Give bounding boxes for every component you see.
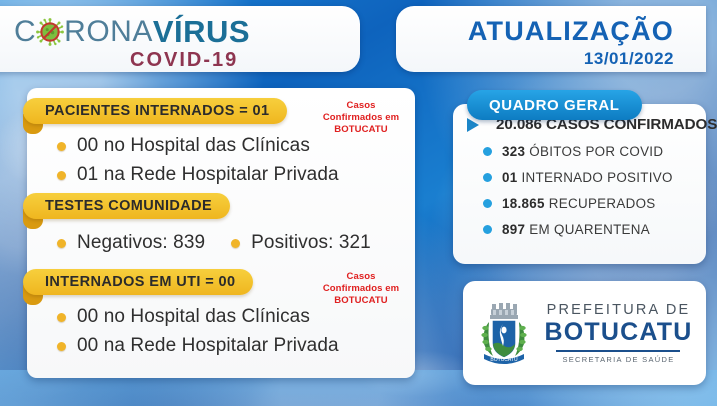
summary-row-0: 323 ÓBITOS POR COVID xyxy=(502,144,663,159)
bullet-dot-icon xyxy=(231,239,240,248)
bullet-text: 00 no Hospital das Clínicas xyxy=(77,135,310,157)
bullet-text: 01 na Rede Hospitalar Privada xyxy=(77,164,339,186)
update-block: ATUALIZAÇÃO 13/01/2022 xyxy=(468,18,674,69)
update-date: 13/01/2022 xyxy=(468,49,674,69)
bullet-list-2: Negativos: 839 Positivos: 321 xyxy=(57,225,417,254)
summary-label: ÓBITOS POR COVID xyxy=(529,144,663,159)
right-summary-card: 20.086 CASOS CONFIRMADOS 323 ÓBITOS POR … xyxy=(453,104,706,264)
note-line-2b: Confirmados em xyxy=(303,283,419,295)
prefeitura-line3: SECRETARIA DE SAÚDE xyxy=(562,356,674,364)
section-title-1: PACIENTES INTERNADOS = 01 xyxy=(45,103,269,119)
bullet-dot-icon xyxy=(57,342,66,351)
bullet-dot-icon xyxy=(57,313,66,322)
divider xyxy=(556,350,680,352)
list-item: 897 EM QUARENTENA xyxy=(483,222,706,237)
header-logo-card: C xyxy=(0,6,360,72)
summary-label: INTERNADO POSITIVO xyxy=(522,170,673,185)
bullet-text: Positivos: 321 xyxy=(251,232,371,254)
right-panel-title: QUADRO GERAL xyxy=(489,97,620,114)
bullet-dot-icon xyxy=(57,239,66,248)
note-line-1a: Casos xyxy=(303,100,419,112)
prefeitura-line2: BOTUCATU xyxy=(544,320,692,345)
section-title-pill-1: PACIENTES INTERNADOS = 01 xyxy=(23,98,287,124)
note-line-1b: Confirmados em xyxy=(303,112,419,124)
bullet-text: Negativos: 839 xyxy=(77,232,205,254)
summary-row-1: 01 INTERNADO POSITIVO xyxy=(502,170,673,185)
list-item: 01 na Rede Hospitalar Privada xyxy=(57,164,339,186)
coronavirus-logo: C xyxy=(14,16,250,70)
list-item: 323 ÓBITOS POR COVID xyxy=(483,144,706,159)
update-title: ATUALIZAÇÃO xyxy=(468,18,674,45)
bullet-dot-icon xyxy=(483,147,492,156)
note-line-2a: Casos xyxy=(303,271,419,283)
list-item: 00 na Rede Hospitalar Privada xyxy=(57,335,339,357)
summary-row-3: 897 EM QUARENTENA xyxy=(502,222,650,237)
infographic-canvas: C xyxy=(0,0,717,406)
bullet-dot-icon xyxy=(57,171,66,180)
bullet-list-3: 00 no Hospital das Clínicas 00 na Rede H… xyxy=(57,299,339,357)
bullet-dot-icon xyxy=(483,173,492,182)
section-title-pill-3: INTERNADOS EM UTI = 00 xyxy=(23,269,253,295)
list-item: 00 no Hospital das Clínicas xyxy=(57,135,339,157)
svg-text:BOTUCATU: BOTUCATU xyxy=(491,357,519,363)
list-item: 00 no Hospital das Clínicas xyxy=(57,306,339,328)
header-update-card: ATUALIZAÇÃO 13/01/2022 xyxy=(396,6,706,72)
summary-label: RECUPERADOS xyxy=(549,196,656,211)
bullet-text: 00 na Rede Hospitalar Privada xyxy=(77,335,339,357)
bullet-dot-icon xyxy=(57,142,66,151)
logo-letters-rona: RONA xyxy=(64,17,153,47)
prefeitura-wordmark: PREFEITURA DE BOTUCATU SECRETARIA DE SAÚ… xyxy=(544,303,692,363)
botucatu-coat-of-arms-icon: BOTUCATU xyxy=(476,300,532,366)
section-title-pill-2: TESTES COMUNIDADE xyxy=(23,193,230,219)
logo-letter-c: C xyxy=(14,17,36,47)
bullet-dot-icon xyxy=(483,225,492,234)
summary-value: 18.865 xyxy=(502,196,545,211)
list-item: 18.865 RECUPERADOS xyxy=(483,196,706,211)
summary-label: EM QUARENTENA xyxy=(529,222,650,237)
bullet-text: 00 no Hospital das Clínicas xyxy=(77,306,310,328)
logo-virus-word: VÍRUS xyxy=(153,16,250,47)
prefeitura-logo-card: BOTUCATU PREFEITURA DE BOTUCATU SECRETAR… xyxy=(463,281,706,385)
right-panel-title-pill: QUADRO GERAL xyxy=(467,90,642,120)
prefeitura-line1: PREFEITURA DE xyxy=(547,303,691,318)
list-item: 01 INTERNADO POSITIVO xyxy=(483,170,706,185)
section-title-2: TESTES COMUNIDADE xyxy=(45,198,212,214)
left-stats-card: PACIENTES INTERNADOS = 01 Casos Confirma… xyxy=(27,88,415,378)
summary-value: 01 xyxy=(502,170,518,185)
virus-blocked-icon xyxy=(35,17,65,47)
list-item: Negativos: 839 Positivos: 321 xyxy=(57,232,417,254)
summary-row-2: 18.865 RECUPERADOS xyxy=(502,196,656,211)
section-title-3: INTERNADOS EM UTI = 00 xyxy=(45,274,235,290)
logo-covid19-subtitle: COVID-19 xyxy=(130,50,238,70)
summary-value: 323 xyxy=(502,144,525,159)
summary-value: 897 xyxy=(502,222,525,237)
bullet-list-1: 00 no Hospital das Clínicas 01 na Rede H… xyxy=(57,128,339,186)
bullet-dot-icon xyxy=(483,199,492,208)
